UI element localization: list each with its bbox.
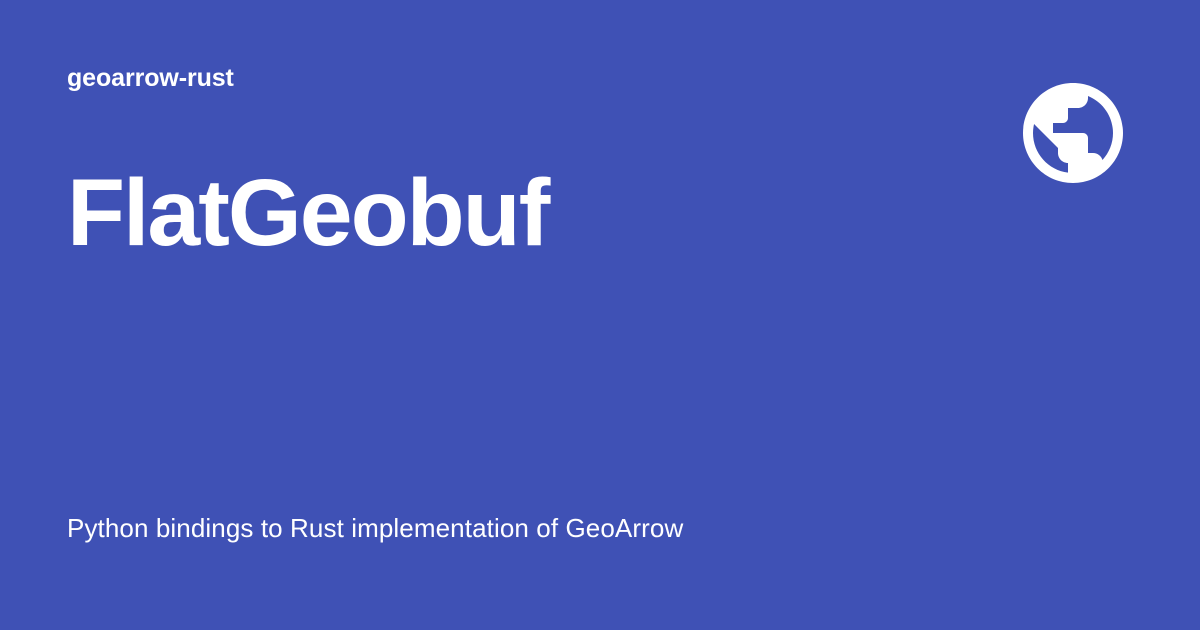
page-title: FlatGeobuf	[67, 93, 548, 261]
social-card: geoarrow-rust FlatGeobuf Python bindings…	[0, 0, 1200, 630]
page-subtitle: Python bindings to Rust implementation o…	[67, 512, 683, 546]
card-header: geoarrow-rust FlatGeobuf	[0, 0, 1200, 266]
header-text-block: geoarrow-rust FlatGeobuf	[67, 64, 548, 261]
card-footer: Python bindings to Rust implementation o…	[67, 512, 1133, 552]
project-name: geoarrow-rust	[67, 64, 548, 93]
globe-icon	[1013, 73, 1133, 193]
